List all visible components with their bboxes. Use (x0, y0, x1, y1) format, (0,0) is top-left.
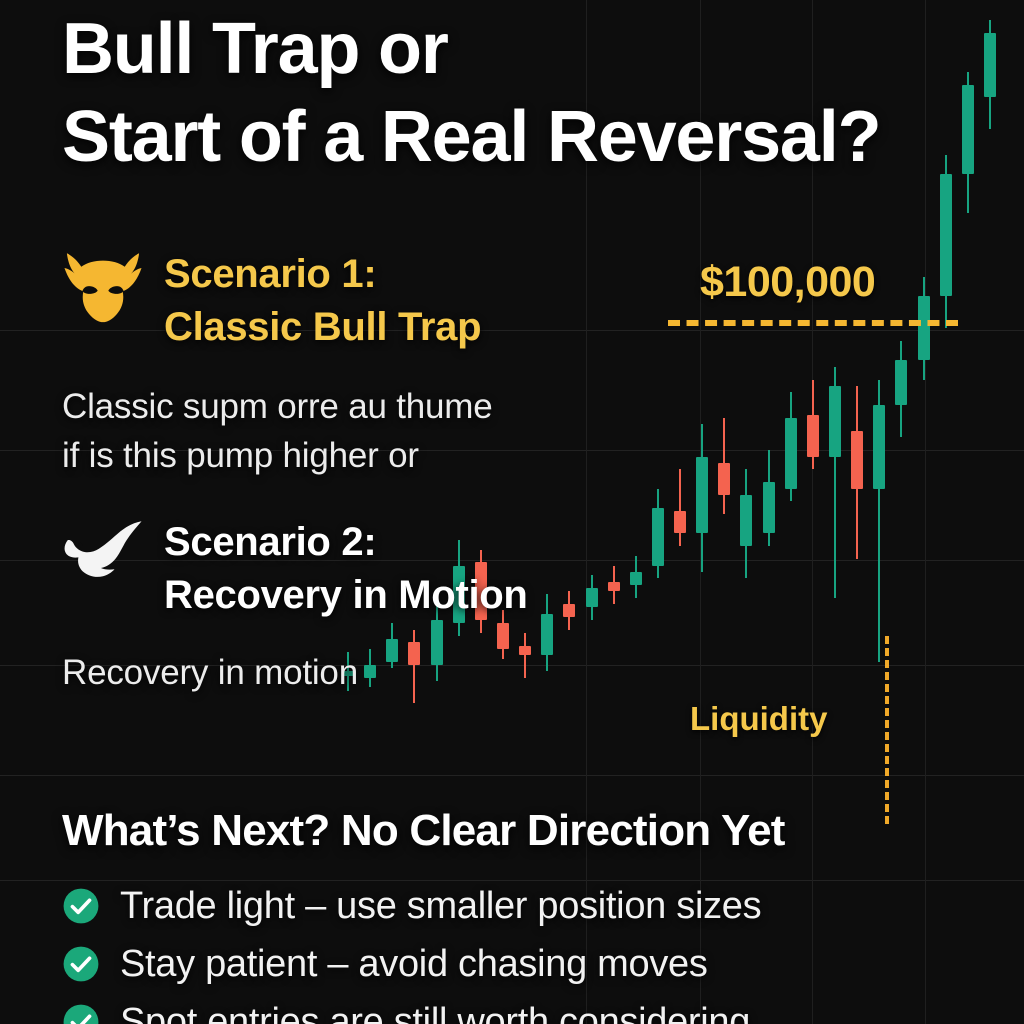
check-circle-icon (62, 945, 100, 983)
infographic-root: $100,000 Liquidity Bull Trap or Start of… (0, 0, 1024, 1024)
checklist-item-label: Stay patient – avoid chasing moves (120, 943, 708, 986)
checklist-item: Trade light – use smaller position sizes (62, 878, 982, 934)
dove-icon (62, 518, 144, 585)
whats-next-heading: What’s Next? No Clear Direction Yet (62, 806, 785, 856)
scenario-2-body: Recovery in motion (62, 648, 528, 698)
scenario-2-title-line-2: Recovery in Motion (164, 569, 528, 622)
title-line-2: Start of a Real Reversal? (62, 94, 962, 182)
checklist-item: Spot entries are still worth considering (62, 994, 982, 1024)
checklist-item: Stay patient – avoid chasing moves (62, 936, 982, 992)
scenario-1-body: Classic supm orre au thume if is this pu… (62, 382, 493, 481)
scenario-2-block: Scenario 2: Recovery in Motion Recovery … (62, 516, 528, 697)
title-line-1: Bull Trap or (62, 6, 962, 94)
scenario-1-body-line-1: Classic supm orre au thume (62, 382, 493, 432)
check-circle-icon (62, 1003, 100, 1024)
scenario-2-title-line-1: Scenario 2: (164, 516, 528, 569)
scenario-1-header: Scenario 1: Classic Bull Trap (62, 248, 493, 354)
bull-head-icon (62, 250, 144, 325)
scenario-1-titles: Scenario 1: Classic Bull Trap (164, 248, 481, 354)
scenario-1-body-line-2: if is this pump higher or (62, 431, 493, 481)
scenario-1-title-line-1: Scenario 1: (164, 248, 481, 301)
checklist: Trade light – use smaller position sizes… (62, 878, 982, 1024)
page-title: Bull Trap or Start of a Real Reversal? (62, 6, 962, 182)
checklist-item-label: Spot entries are still worth considering (120, 1001, 750, 1024)
scenario-1-block: Scenario 1: Classic Bull Trap Classic su… (62, 248, 493, 481)
scenario-2-body-line-1: Recovery in motion (62, 648, 528, 698)
content-layer: Bull Trap or Start of a Real Reversal? S… (0, 0, 1024, 1024)
scenario-2-header: Scenario 2: Recovery in Motion (62, 516, 528, 622)
scenario-1-title-line-2: Classic Bull Trap (164, 301, 481, 354)
scenario-2-titles: Scenario 2: Recovery in Motion (164, 516, 528, 622)
checklist-item-label: Trade light – use smaller position sizes (120, 885, 761, 928)
check-circle-icon (62, 887, 100, 925)
